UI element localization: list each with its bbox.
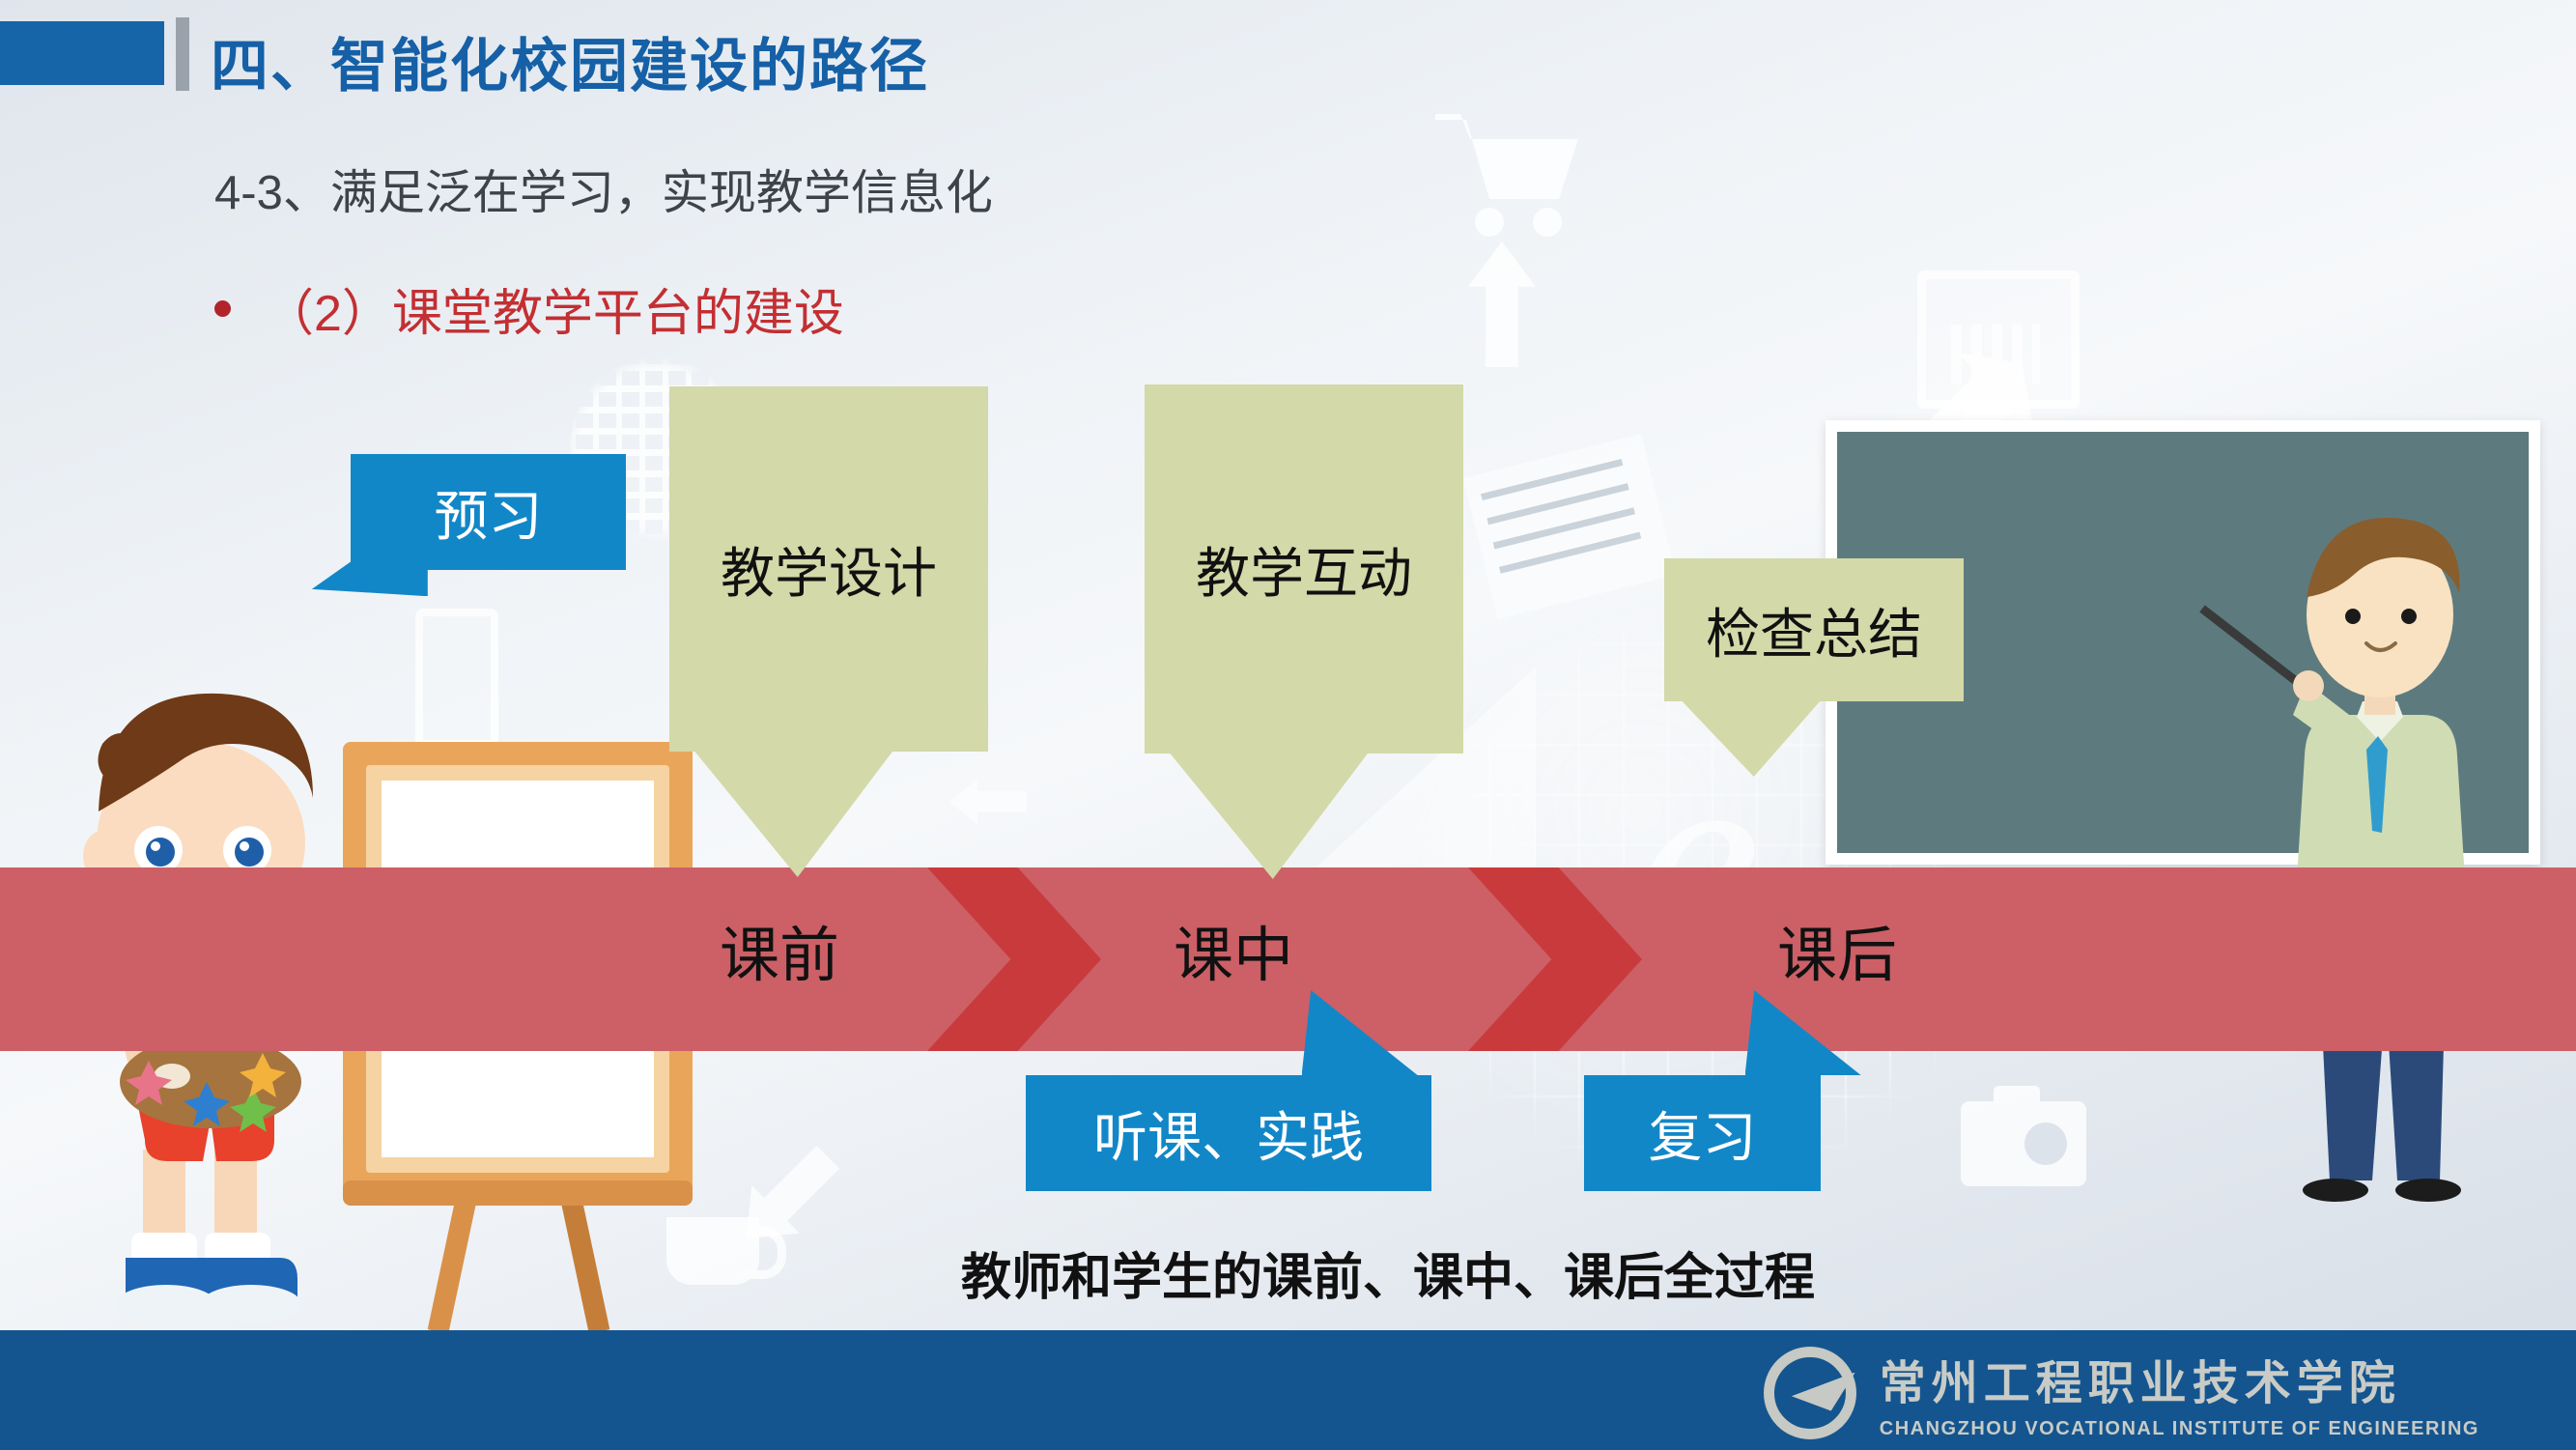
arrow-up-icon — [1468, 242, 1536, 367]
bullet-label: （2）课堂教学平台的建设 — [264, 272, 844, 345]
arrow-left-icon — [722, 1133, 852, 1263]
callout-tail — [1683, 701, 1821, 777]
process-stage-before: 课前 — [720, 906, 839, 993]
callout-listen-practice[interactable]: 听课、实践 — [1026, 1075, 1431, 1191]
mobile-phone-icon — [415, 609, 498, 748]
slide-canvas: e 互联网 四、智能化校园建设的路径 4-3、满足泛在学习，实现教学信息化 （2… — [0, 0, 2576, 1450]
page-title: 四、智能化校园建设的路径 — [211, 19, 929, 103]
diagram-caption: 教师和学生的课前、课中、课后全过程 — [961, 1237, 1815, 1309]
callout-label: 预习 — [435, 473, 543, 552]
callout-label: 复习 — [1649, 1095, 1757, 1173]
header-accent-block — [0, 21, 164, 85]
callout-preview[interactable]: 预习 — [351, 454, 626, 570]
monitor-chart-icon — [1917, 270, 2080, 409]
callout-tail — [312, 507, 428, 596]
section-subtitle: 4-3、满足泛在学习，实现教学信息化 — [214, 155, 993, 223]
bullet-row: （2）课堂教学平台的建设 — [214, 272, 844, 345]
logo-mark-icon — [1764, 1347, 1856, 1439]
documents-icon — [1463, 434, 1677, 619]
process-stage-during: 课中 — [1174, 906, 1293, 993]
callout-review-summary[interactable]: 检查总结 — [1664, 558, 1964, 701]
callout-label: 教学互动 — [1196, 530, 1412, 609]
callout-tail — [694, 752, 892, 877]
institution-name-en: CHANGZHOU VOCATIONAL INSTITUTE OF ENGINE… — [1880, 1418, 2479, 1440]
header-accent-bar — [176, 17, 189, 91]
shopping-cart-icon — [1430, 106, 1594, 251]
callout-label: 教学设计 — [721, 530, 937, 609]
callout-tail — [1170, 753, 1368, 879]
callout-teaching-design[interactable]: 教学设计 — [669, 386, 988, 752]
callout-label: 检查总结 — [1706, 591, 1922, 669]
bullet-dot-icon — [214, 300, 231, 317]
process-stage-after: 课后 — [1777, 906, 1897, 993]
arrow-small-icon — [949, 780, 1027, 824]
camera-icon — [1961, 1101, 2086, 1186]
callout-revision[interactable]: 复习 — [1584, 1075, 1821, 1191]
callout-label: 听课、实践 — [1093, 1095, 1364, 1173]
institution-name-cn: 常州工程职业技术学院 — [1880, 1345, 2479, 1412]
institution-logo: 常州工程职业技术学院 CHANGZHOU VOCATIONAL INSTITUT… — [1764, 1345, 2479, 1440]
callout-teaching-interaction[interactable]: 教学互动 — [1145, 384, 1463, 753]
